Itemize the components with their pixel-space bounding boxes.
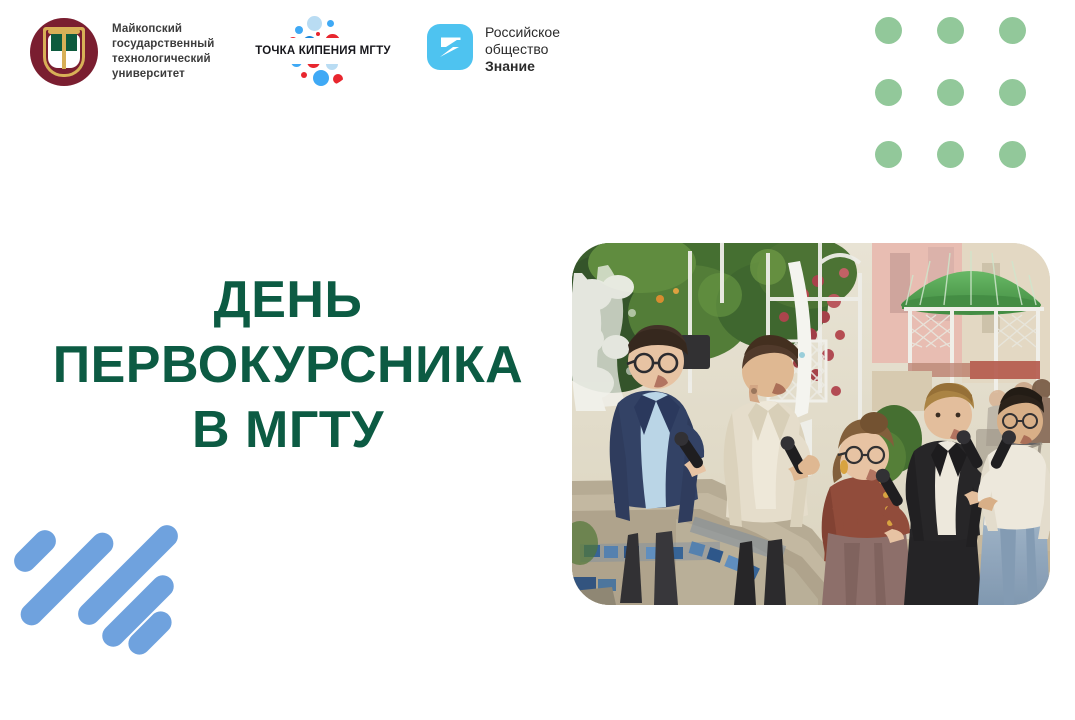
green-dot — [875, 17, 902, 44]
poster-headline: ДЕНЬ ПЕРВОКУРСНИКА В МГТУ — [28, 268, 548, 463]
green-dot — [999, 141, 1026, 168]
stripe-bar — [10, 526, 61, 577]
green-dot — [937, 141, 964, 168]
headline-line-2: ПЕРВОКУРСНИКА — [28, 333, 548, 398]
znanie-logo-text: Российское общество Знание — [485, 24, 560, 75]
header-logo-bar: Майкопский государственный технологическ… — [0, 0, 640, 100]
green-dot — [999, 79, 1026, 106]
headline-line-3: В МГТУ — [28, 398, 548, 463]
headline-line-1: ДЕНЬ — [28, 268, 548, 333]
mgtu-logo: Майкопский государственный технологическ… — [30, 18, 214, 86]
green-dot — [875, 79, 902, 106]
znanie-z-icon — [427, 24, 473, 70]
green-dot — [875, 141, 902, 168]
mgtu-logo-text: Майкопский государственный технологическ… — [112, 22, 214, 82]
znanie-line-1: Российское — [485, 24, 560, 41]
mgtu-line-1: Майкопский — [112, 22, 214, 37]
green-dot — [999, 17, 1026, 44]
book-spine — [62, 31, 66, 69]
blue-diagonal-stripes — [0, 522, 200, 672]
green-dot-grid — [875, 17, 1031, 173]
shield-book-emblem-icon — [30, 18, 98, 86]
green-dot — [937, 17, 964, 44]
mgtu-line-2: государственный — [112, 37, 214, 52]
green-dot — [937, 79, 964, 106]
poster-canvas: Майкопский государственный технологическ… — [0, 0, 1075, 720]
znanie-line-2: общество — [485, 41, 560, 58]
mgtu-line-4: университет — [112, 67, 214, 82]
znanie-line-3: Знание — [485, 58, 560, 75]
znanie-logo: Российское общество Знание — [427, 24, 560, 75]
tochka-kipeniya-logo: ТОЧКА КИПЕНИЯ МГТУ — [255, 10, 391, 90]
students-singing-photo — [572, 243, 1050, 605]
tochka-kipeniya-label: ТОЧКА КИПЕНИЯ МГТУ — [255, 40, 391, 62]
tochka-kipeniya-label-band: ТОЧКА КИПЕНИЯ МГТУ — [255, 40, 391, 62]
mgtu-line-3: технологический — [112, 52, 214, 67]
